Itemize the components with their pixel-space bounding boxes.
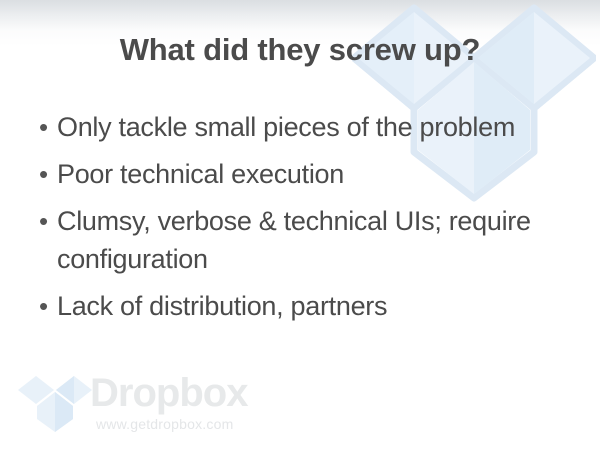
bullet-list: • Only tackle small pieces of the proble… (36, 108, 556, 334)
bullet-point-icon: • (36, 202, 57, 240)
brand-wordmark: Dropbox (90, 371, 247, 416)
list-item: • Only tackle small pieces of the proble… (36, 108, 556, 146)
bullet-point-icon: • (36, 108, 57, 146)
footer-brand: Dropbox www.getdropbox.com (14, 370, 314, 442)
list-item-text: Clumsy, verbose & technical UIs; require… (57, 202, 556, 278)
list-item-text: Poor technical execution (57, 155, 556, 193)
list-item-text: Lack of distribution, partners (57, 287, 556, 325)
list-item: • Lack of distribution, partners (36, 287, 556, 325)
slide-title: What did they screw up? (0, 32, 600, 68)
presentation-slide: What did they screw up? • Only tackle sm… (0, 0, 600, 450)
list-item: • Poor technical execution (36, 155, 556, 193)
bullet-point-icon: • (36, 287, 57, 325)
list-item-text: Only tackle small pieces of the problem (57, 108, 556, 146)
brand-url: www.getdropbox.com (96, 416, 233, 432)
dropbox-open-box-icon (16, 374, 94, 436)
list-item: • Clumsy, verbose & technical UIs; requi… (36, 202, 556, 278)
bullet-point-icon: • (36, 155, 57, 193)
